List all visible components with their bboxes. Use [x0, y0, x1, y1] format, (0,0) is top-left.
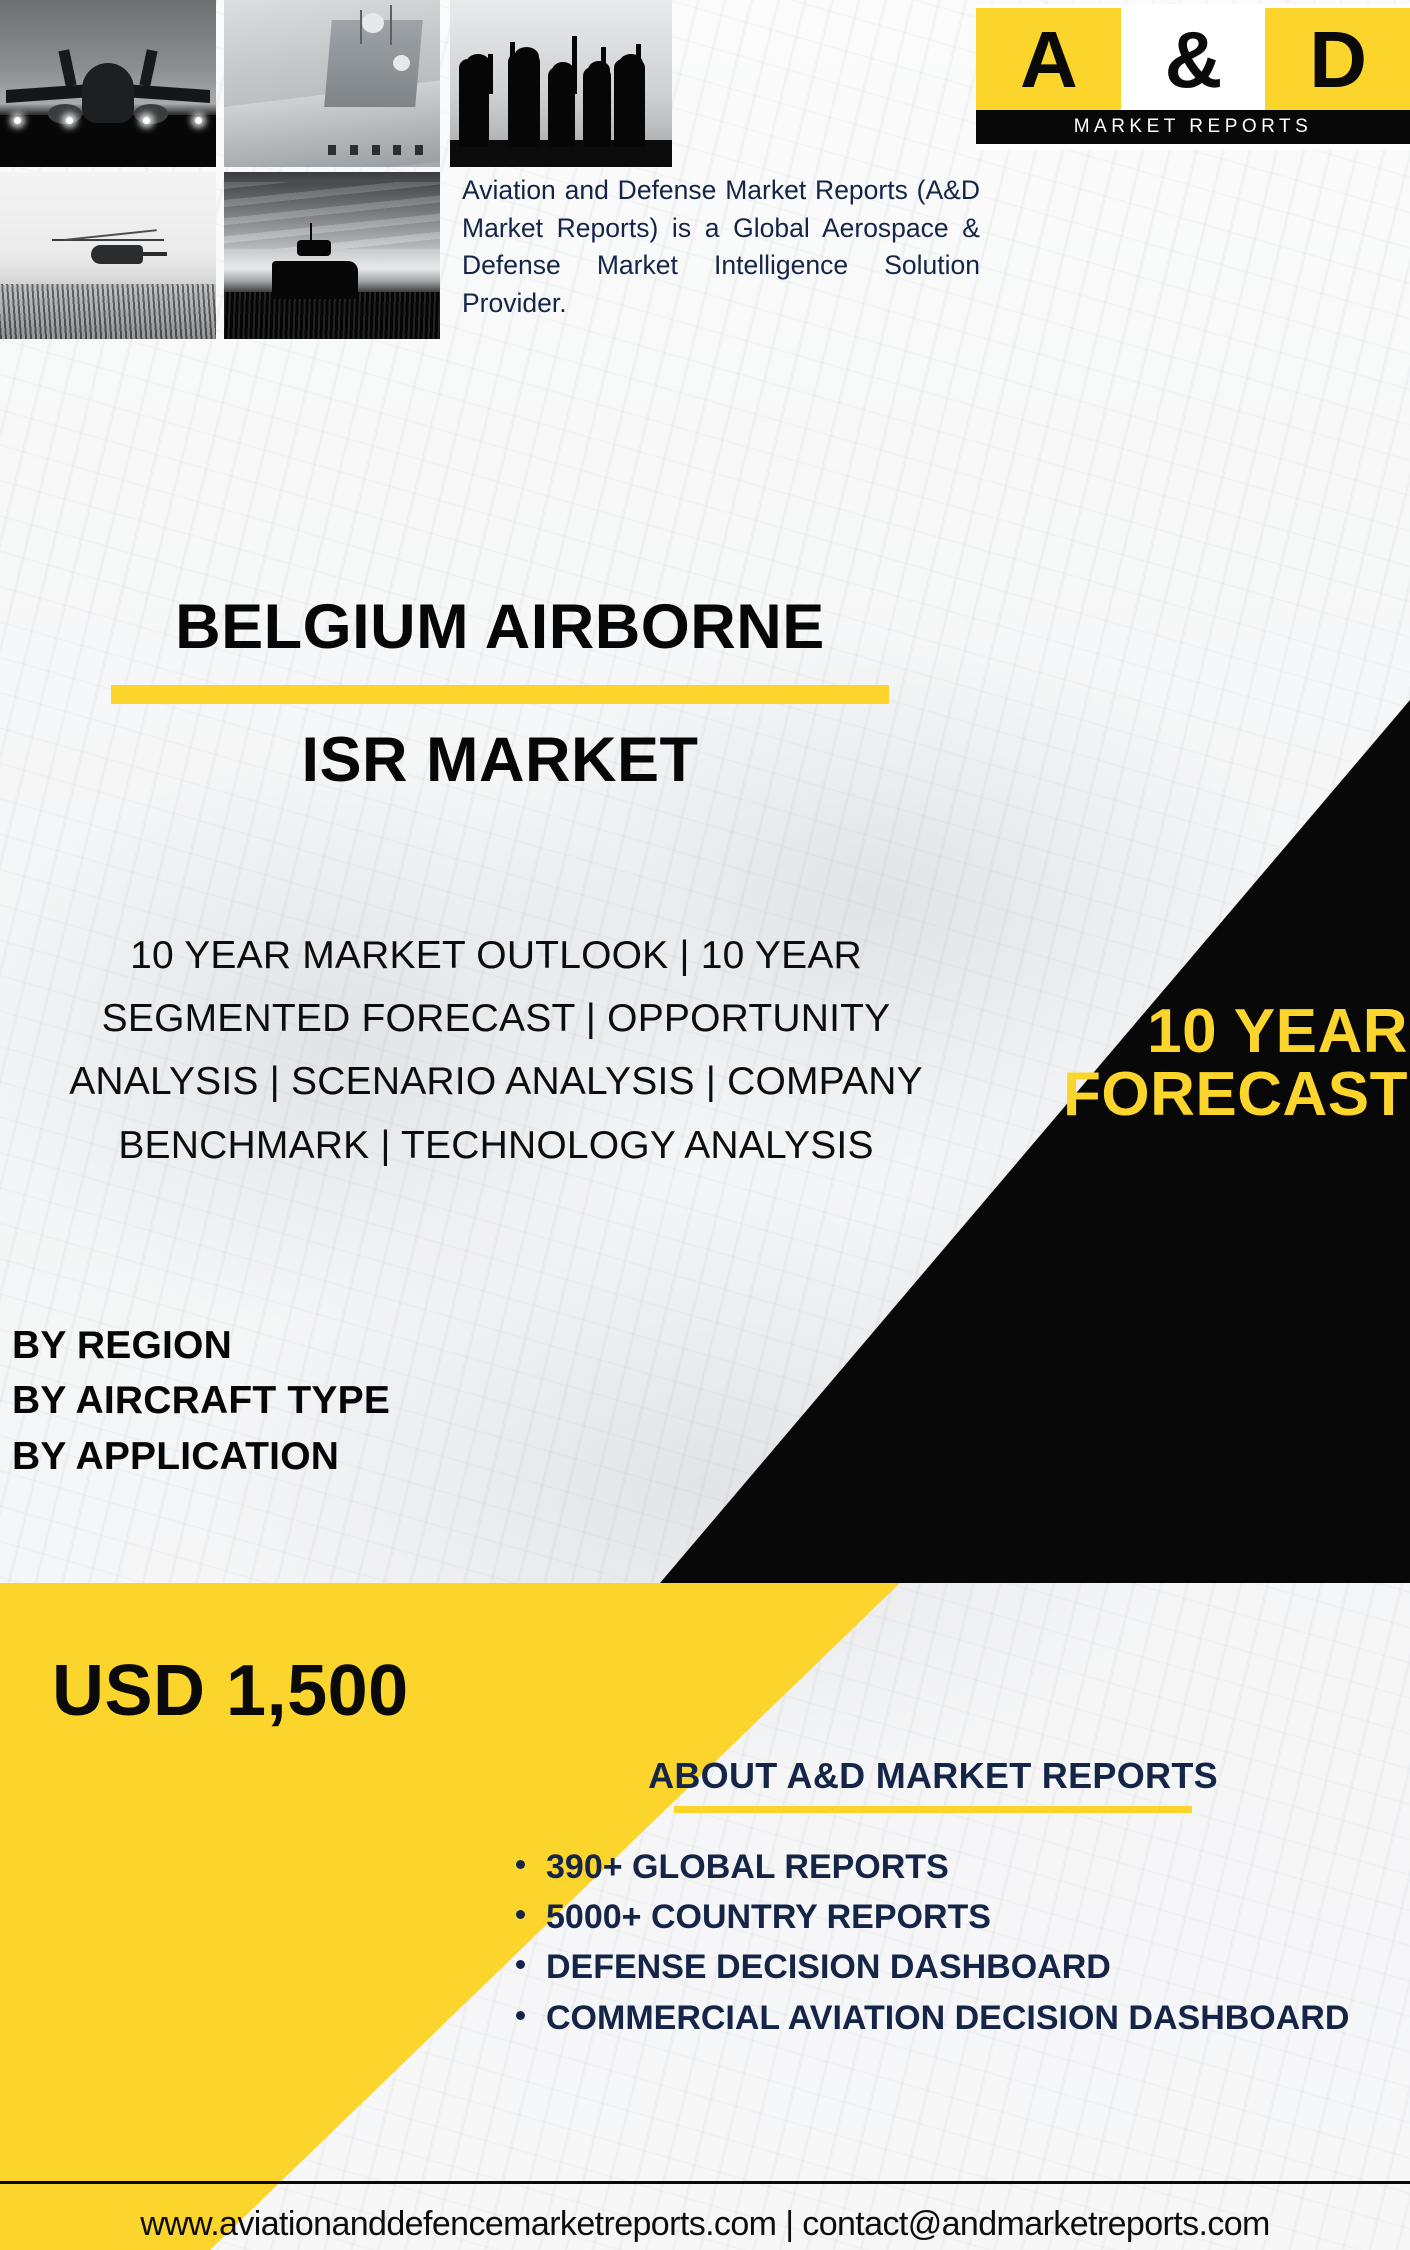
- report-cover-poster: A & D MARKET REPORTS Aviation and Defens…: [0, 0, 1410, 2250]
- about-item-label: 390+ GLOBAL REPORTS: [546, 1848, 949, 1886]
- logo-tagline-band: MARKET REPORTS: [976, 110, 1410, 144]
- report-title-line-1: BELGIUM AIRBORNE: [0, 596, 1000, 659]
- photo-fighter-jet-on-carrier-deck: [0, 0, 216, 167]
- forecast-badge: 10 YEAR FORECAST: [668, 1000, 1410, 1126]
- segment-by-region: BY REGION: [12, 1318, 390, 1373]
- logo-letter-a: A: [976, 8, 1121, 112]
- about-item-label: DEFENSE DECISION DASHBOARD: [546, 1948, 1111, 1986]
- photo-aircraft-carrier: [224, 0, 440, 167]
- about-section: ABOUT A&D MARKET REPORTS 390+ GLOBAL REP…: [456, 1754, 1410, 2048]
- logo-letter-d: D: [1265, 8, 1410, 112]
- about-item-country-reports: 5000+ COUNTRY REPORTS: [512, 1897, 1410, 1937]
- bullet-dot-icon: [516, 1860, 525, 1869]
- report-title-line-2: ISR MARKET: [0, 729, 1000, 792]
- price-value: USD 1,500: [52, 1655, 409, 1727]
- about-heading: ABOUT A&D MARKET REPORTS: [456, 1754, 1410, 1797]
- about-item-label: COMMERCIAL AVIATION DECISION DASHBOARD: [546, 1999, 1349, 2037]
- footer-contact: www.aviationanddefencemarketreports.com …: [0, 2205, 1410, 2244]
- segment-by-application: BY APPLICATION: [12, 1429, 390, 1484]
- about-yellow-rule: [674, 1806, 1192, 1813]
- about-item-global-reports: 390+ GLOBAL REPORTS: [512, 1847, 1410, 1887]
- footer-divider: [0, 2181, 1410, 2184]
- logo-tagline-text: MARKET REPORTS: [1074, 116, 1313, 138]
- report-title: BELGIUM AIRBORNE ISR MARKET: [0, 596, 1000, 792]
- logo-letter-ampersand: &: [1121, 8, 1266, 112]
- photo-military-helicopter: [0, 172, 216, 339]
- segment-by-aircraft-type: BY AIRCRAFT TYPE: [12, 1373, 390, 1428]
- segmentation-list: BY REGION BY AIRCRAFT TYPE BY APPLICATIO…: [12, 1318, 390, 1484]
- brand-logo: A & D MARKET REPORTS: [976, 4, 1410, 150]
- title-yellow-rule: [111, 685, 889, 704]
- about-bullet-list: 390+ GLOBAL REPORTS 5000+ COUNTRY REPORT…: [456, 1847, 1410, 2037]
- about-item-label: 5000+ COUNTRY REPORTS: [546, 1898, 991, 1936]
- bullet-dot-icon: [516, 1910, 525, 1919]
- forecast-badge-line-1: 10 YEAR: [668, 1000, 1408, 1063]
- about-item-defense-dashboard: DEFENSE DECISION DASHBOARD: [512, 1947, 1410, 1987]
- bullet-dot-icon: [516, 2011, 525, 2020]
- forecast-badge-line-2: FORECAST: [668, 1063, 1408, 1126]
- about-item-commercial-aviation-dashboard: COMMERCIAL AVIATION DECISION DASHBOARD: [512, 1998, 1410, 2038]
- logo-letter-tiles: A & D: [976, 8, 1410, 112]
- bullet-dot-icon: [516, 1960, 525, 1969]
- company-intro-paragraph: Aviation and Defense Market Reports (A&D…: [462, 172, 980, 323]
- photo-soldiers-silhouette: [450, 0, 672, 167]
- photo-armored-vehicle-at-dusk: [224, 172, 440, 339]
